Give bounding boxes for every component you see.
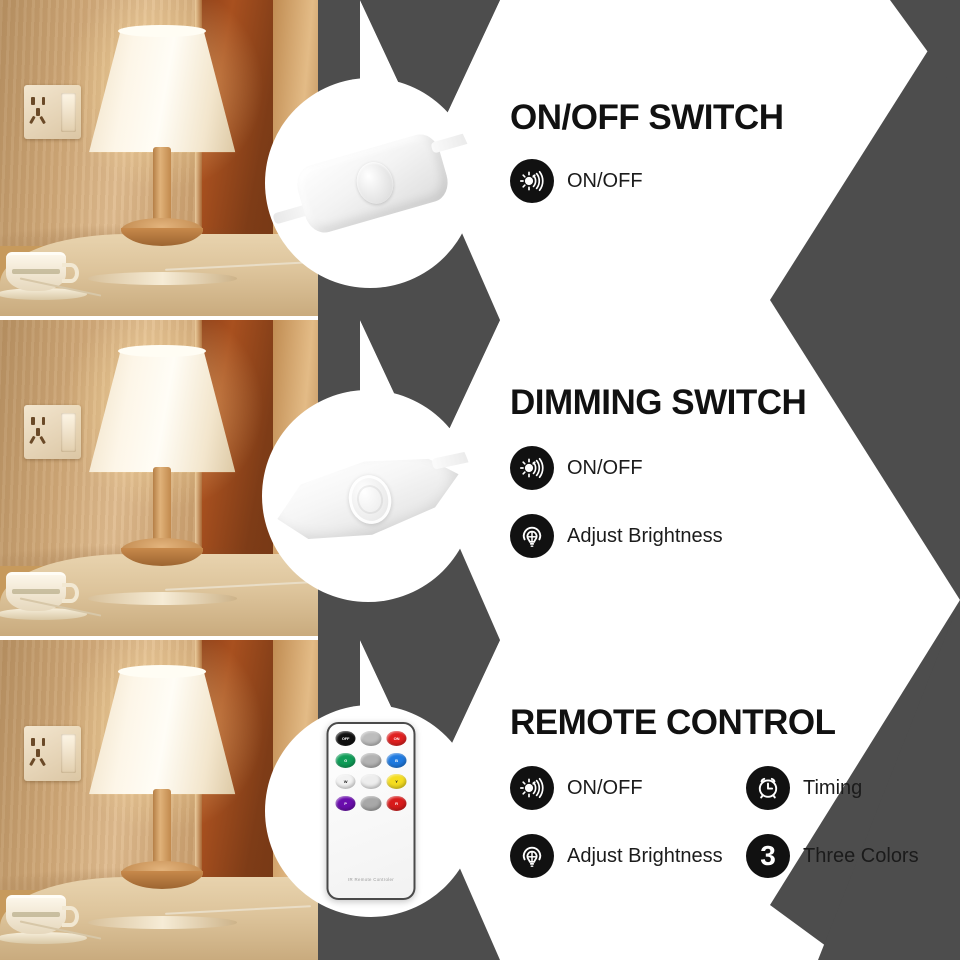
dimmer-cord — [431, 449, 474, 469]
bulb-dimmer-icon — [510, 514, 554, 558]
wall-socket — [24, 726, 81, 780]
feature-label: Three Colors — [803, 845, 919, 868]
remote-button-label: R — [386, 796, 406, 811]
table-lamp — [89, 28, 235, 281]
lamp-shade-lip — [88, 272, 237, 285]
remote-button-label: OFF — [335, 731, 355, 746]
remote-button-label — [361, 731, 381, 746]
feature-timing: Timing — [746, 766, 862, 810]
feature-label: Adjust Brightness — [567, 845, 723, 868]
remote-button-b: B — [386, 753, 406, 768]
remote-button-label: P — [335, 796, 355, 811]
feature-label: ON/OFF — [567, 170, 643, 193]
ir-remote-control: OFFONGBWYPR IR Remote Controler — [326, 722, 415, 900]
product-feature-infographic: OFFONGBWYPR IR Remote Controler ON/OFF S… — [0, 0, 960, 960]
inline-rocker-switch-inset — [265, 78, 475, 288]
teacup — [3, 566, 79, 620]
remote-button-label — [361, 796, 381, 811]
lamp-base-edge — [121, 228, 203, 246]
remote-button-label: ON — [386, 731, 406, 746]
feature-adjust-brightness: Adjust Brightness — [510, 514, 723, 558]
section-title-dimming-switch: DIMMING SWITCH — [510, 385, 806, 420]
remote-button-on: ON — [386, 731, 406, 746]
remote-button-y: Y — [386, 774, 406, 789]
sun-signal-icon — [510, 159, 554, 203]
remote-button-g: G — [335, 753, 355, 768]
ir-remote-inset: OFFONGBWYPR IR Remote Controler — [265, 705, 477, 917]
wall-socket — [24, 405, 81, 459]
remote-button-label: G — [335, 753, 355, 768]
remote-button-label — [361, 753, 381, 768]
table-lamp — [89, 669, 235, 925]
remote-button-label: Y — [386, 774, 406, 789]
remote-button-fn10 — [361, 796, 381, 811]
section-title-remote-control: REMOTE CONTROL — [510, 705, 919, 740]
three-badge-text: 3 — [760, 842, 776, 870]
section-title-on-off-switch: ON/OFF SWITCH — [510, 100, 783, 135]
alarm-clock-icon — [746, 766, 790, 810]
remote-button-fn1 — [361, 731, 381, 746]
section-dimming-switch: DIMMING SWITCH — [510, 385, 806, 558]
remote-button-label: B — [386, 753, 406, 768]
remote-button-fn7 — [361, 774, 381, 789]
remote-button-w: W — [335, 774, 355, 789]
lamp-shade — [89, 28, 235, 152]
switch-cord-right — [430, 131, 473, 153]
remote-button-p: P — [335, 796, 355, 811]
teacup — [3, 246, 79, 300]
feature-on-off: ON/OFF — [510, 766, 730, 810]
wall-socket — [24, 85, 81, 139]
remote-button-off: OFF — [335, 731, 355, 746]
remote-button-grid: OFFONGBWYPR — [335, 731, 406, 811]
remote-footer-label: IR Remote Controler — [328, 877, 413, 882]
feature-label: ON/OFF — [567, 777, 643, 800]
number-three-icon: 3 — [746, 834, 790, 878]
remote-button-label: W — [335, 774, 355, 789]
section-on-off-switch: ON/OFF SWITCH — [510, 100, 783, 203]
remote-button-label — [361, 774, 381, 789]
feature-label: Adjust Brightness — [567, 525, 723, 548]
feature-label: Timing — [803, 777, 862, 800]
eye-dimmer-switch-inset — [262, 390, 474, 602]
feature-adjust-brightness: Adjust Brightness — [510, 834, 730, 878]
feature-three-colors: 3 Three Colors — [746, 834, 919, 878]
table-lamp — [89, 348, 235, 601]
section-remote-control: REMOTE CONTROL — [510, 705, 919, 878]
lamp-neck — [153, 147, 171, 225]
feature-label: ON/OFF — [567, 457, 643, 480]
teacup — [3, 890, 79, 944]
sun-signal-icon — [510, 446, 554, 490]
feature-on-off: ON/OFF — [510, 446, 643, 490]
bulb-dimmer-icon — [510, 834, 554, 878]
feature-on-off: ON/OFF — [510, 159, 643, 203]
sun-signal-icon — [510, 766, 554, 810]
remote-button-r: R — [386, 796, 406, 811]
remote-button-fn4 — [361, 753, 381, 768]
